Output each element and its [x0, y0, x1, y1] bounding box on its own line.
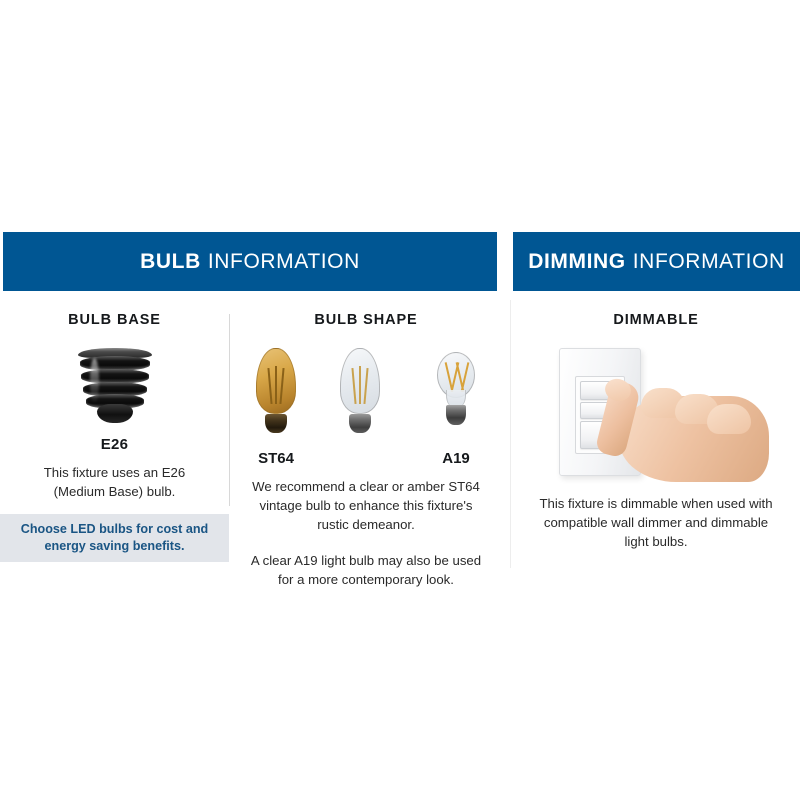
filament-part	[275, 366, 277, 404]
bulb-label-st64: ST64	[243, 450, 309, 467]
st64-clear-bulb-icon	[327, 346, 393, 438]
bulb-cap-part	[349, 414, 371, 433]
bulb-base-caption: E26	[0, 436, 229, 453]
e26-screw-base-icon	[70, 348, 160, 424]
hand-illustration	[597, 382, 769, 482]
knuckle-part	[707, 404, 751, 434]
bulb-shape-title: BULB SHAPE	[232, 312, 500, 328]
dimming-information-header-bold: DIMMING	[528, 250, 626, 274]
bulb-information-header: BULB INFORMATION	[3, 232, 497, 291]
dimming-panel: DIMMABLE This fixture is dimmable when u…	[512, 312, 800, 551]
bulb-label-a19: A19	[423, 450, 489, 467]
led-callout-text: Choose LED bulbs for cost and energy sav…	[0, 521, 229, 555]
bulb-shape-artwork-row	[232, 346, 500, 438]
dimming-information-header-light: INFORMATION	[633, 250, 785, 274]
st64-amber-bulb-icon	[243, 346, 309, 438]
bulb-base-title: BULB BASE	[0, 312, 229, 328]
led-callout-box: Choose LED bulbs for cost and energy sav…	[0, 514, 229, 562]
bulb-information-header-bold: BULB	[140, 250, 201, 274]
divider-base-shape	[229, 314, 230, 506]
bulb-shape-panel: BULB SHAPE	[232, 312, 500, 589]
dimming-description: This fixture is dimmable when used with …	[538, 494, 774, 551]
bulb-cap-part	[446, 405, 466, 425]
bulb-cap-part	[265, 414, 287, 433]
bulb-shape-label-row: ST64 A19	[232, 442, 500, 467]
info-graphic-canvas: BULB INFORMATION DIMMING INFORMATION BUL…	[0, 0, 800, 800]
base-highlight	[90, 358, 99, 404]
bulb-label-spacer	[327, 442, 393, 467]
bulb-shape-paragraph-2: A clear A19 light bulb may also be used …	[248, 551, 484, 589]
base-tip-part	[97, 404, 133, 423]
bulb-base-panel: BULB BASE E26 This fixture uses an E26 (…	[0, 312, 229, 501]
bulb-information-header-light: INFORMATION	[208, 250, 360, 274]
a19-clear-bulb-icon	[423, 346, 489, 438]
divider-bulb-dimming	[510, 300, 511, 568]
filament-part	[359, 366, 361, 404]
dimming-information-header: DIMMING INFORMATION	[513, 232, 800, 291]
bulb-shape-paragraph-1: We recommend a clear or amber ST64 vinta…	[248, 477, 484, 534]
wall-dimmer-switch-with-hand-icon	[541, 344, 771, 484]
bulb-base-description: This fixture uses an E26 (Medium Base) b…	[20, 463, 210, 501]
dimmable-title: DIMMABLE	[512, 312, 800, 328]
